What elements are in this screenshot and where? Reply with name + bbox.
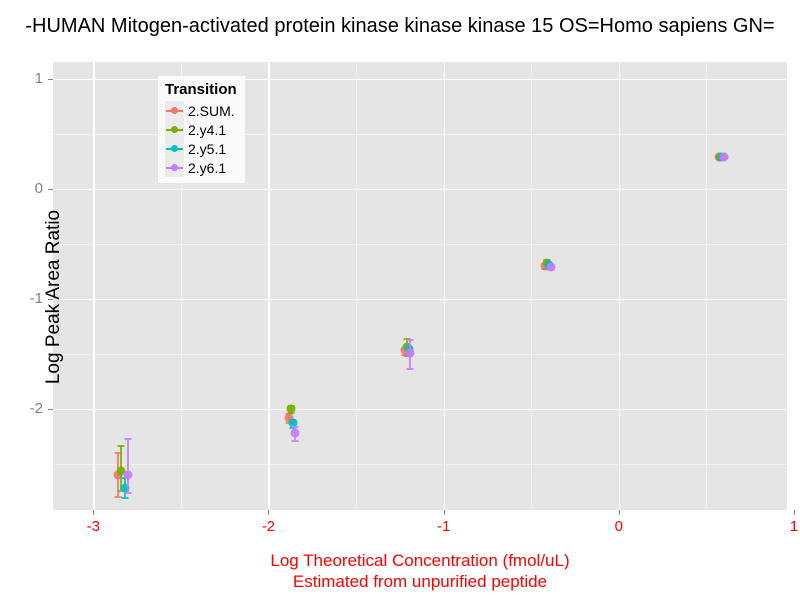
x-axis-title-line2: Estimated from unpurified peptide — [53, 571, 787, 592]
gridline-major-horizontal — [53, 409, 787, 410]
y-axis-tick — [48, 79, 53, 80]
error-bar-cap — [407, 368, 414, 370]
legend-items: 2.SUM.2.y4.12.y5.12.y6.1 — [165, 101, 237, 177]
error-bar-cap — [291, 440, 298, 442]
legend-key-icon — [165, 120, 184, 139]
x-axis-tick-label: -1 — [424, 518, 464, 535]
plot-root: -HUMAN Mitogen-activated protein kinase … — [0, 0, 800, 600]
data-point — [719, 152, 728, 161]
gridline-major-horizontal — [53, 299, 787, 300]
legend-item-2-y4-1[interactable]: 2.y4.1 — [165, 120, 237, 139]
gridline-major-horizontal — [53, 189, 787, 190]
legend-key-icon — [165, 158, 184, 177]
data-point — [287, 404, 296, 413]
legend-item-label: 2.y6.1 — [188, 160, 226, 176]
legend-item-2-y6-1[interactable]: 2.y6.1 — [165, 158, 237, 177]
page-title: -HUMAN Mitogen-activated protein kinase … — [0, 14, 800, 38]
gridline-major-vertical — [444, 62, 445, 510]
data-point — [290, 428, 299, 437]
legend-item-2-y5-1[interactable]: 2.y5.1 — [165, 139, 237, 158]
legend-item-label: 2.SUM. — [188, 103, 235, 119]
data-point — [546, 262, 555, 271]
gridline-minor-vertical — [531, 62, 532, 510]
error-bar — [127, 438, 129, 492]
legend-key-icon — [165, 139, 184, 158]
data-point — [406, 348, 415, 357]
x-axis-tick — [444, 510, 445, 515]
error-bar-cap — [114, 496, 121, 498]
gridline-minor-vertical — [706, 62, 707, 510]
data-point — [124, 470, 133, 479]
x-axis-tick-label: 1 — [774, 518, 800, 535]
x-axis-tick — [794, 510, 795, 515]
legend-key-icon — [165, 101, 184, 120]
x-axis-tick — [619, 510, 620, 515]
gridline-major-vertical — [619, 62, 620, 510]
y-axis-title: Log Peak Area Ratio — [43, 147, 65, 447]
x-axis-tick — [93, 510, 94, 515]
legend-title: Transition — [165, 81, 237, 98]
legend-item-label: 2.y4.1 — [188, 122, 226, 138]
y-axis-tick-label: 1 — [9, 70, 43, 87]
x-axis-title: Log Theoretical Concentration (fmol/uL) … — [53, 550, 787, 592]
gridline-minor-horizontal — [53, 464, 787, 465]
error-bar-cap — [118, 445, 125, 447]
error-bar-cap — [125, 438, 132, 440]
y-axis-tick-label: -1 — [9, 290, 43, 307]
gridline-minor-horizontal — [53, 244, 787, 245]
legend-item-label: 2.y5.1 — [188, 141, 226, 157]
error-bar-cap — [125, 492, 132, 494]
gridline-minor-vertical — [356, 62, 357, 510]
x-axis-tick-label: -3 — [73, 518, 113, 535]
x-axis-tick-label: -2 — [248, 518, 288, 535]
gridline-major-vertical — [93, 62, 94, 510]
y-axis-tick-label: 0 — [9, 180, 43, 197]
legend: Transition 2.SUM.2.y4.12.y5.12.y6.1 — [158, 76, 245, 183]
x-axis-tick-label: 0 — [599, 518, 639, 535]
error-bar-cap — [121, 497, 128, 499]
gridline-major-vertical — [268, 62, 269, 510]
legend-item-2-sum-[interactable]: 2.SUM. — [165, 101, 237, 120]
x-axis-tick — [268, 510, 269, 515]
y-axis-tick-label: -2 — [9, 400, 43, 417]
error-bar-cap — [407, 339, 414, 341]
gridline-minor-horizontal — [53, 354, 787, 355]
x-axis-title-line1: Log Theoretical Concentration (fmol/uL) — [53, 550, 787, 571]
